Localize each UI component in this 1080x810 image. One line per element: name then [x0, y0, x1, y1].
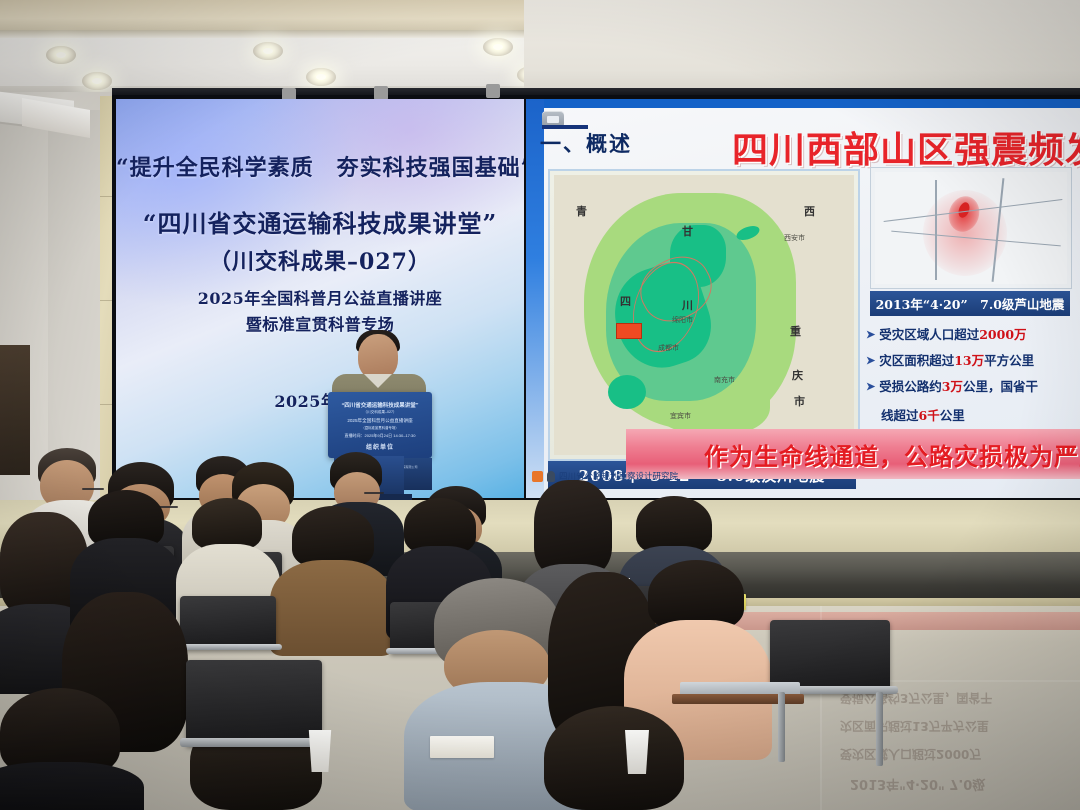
lectern-sign: “四川省交通运输科技成果讲堂” （川交科成果–027） 2025年全国科普月公益…: [333, 397, 427, 453]
hair: [192, 498, 262, 550]
torso: [0, 762, 144, 810]
map-label-province: 西: [804, 203, 815, 219]
floor-reflection-text: 灾区面积超过13万平方公里: [840, 718, 989, 735]
bullet-list: ➤ 受灾区域人口超过2000万 ➤ 灾区面积超过13万平方公里 ➤ 受损公路约3…: [866, 327, 1078, 424]
map-label-province: 青: [576, 203, 587, 219]
bullet-highlight: 3万: [942, 379, 963, 394]
bullet-text-tail: 平方公里: [984, 353, 1034, 368]
red-banner-text: 作为生命线通道，公路灾损极为严重: [704, 437, 1080, 472]
long-hair: [534, 480, 612, 576]
lectern-line1: “四川省交通运输科技成果讲堂”: [336, 401, 424, 409]
dark-doorway: [0, 345, 30, 475]
map-label-province: 庆: [792, 367, 803, 383]
slide-event-line1: 2025年全国科普月公益直播讲座: [116, 289, 524, 309]
map-intensity-high: [608, 375, 646, 409]
map-canvas-small: [875, 172, 1067, 284]
screen-mount-bracket: [374, 86, 388, 100]
bullet-arrow-icon: ➤: [866, 379, 875, 396]
lectern-line6: 组织单位: [336, 442, 424, 451]
wenchuan-intensity-map: 四 川 重 庆 市 青 西 甘 成都市 绵阳市 西安市 南充市 宜宾市: [548, 169, 860, 461]
hair: [544, 706, 684, 810]
recessed-downlight: [46, 46, 76, 64]
map-label-province: 川: [682, 297, 693, 313]
bullet-item: ➤ 受损公路约3万公里，国省干: [866, 379, 1078, 396]
chair-armrest: [176, 644, 282, 650]
lectern-line2: （川交科成果–027）: [336, 410, 424, 415]
bullet-arrow-icon: ➤: [866, 353, 875, 370]
map-label-province: 市: [794, 393, 805, 409]
audience-chair: [186, 660, 322, 746]
recessed-downlight: [306, 68, 336, 86]
section-heading: 一、概述: [540, 128, 632, 158]
map-label-province: 四: [620, 293, 631, 309]
slide-left-accent-edge: [526, 99, 544, 498]
conference-hall-photo: “提升全民科学素质 夯实科技强国基础” “四川省交通运输科技成果讲堂” （川交科…: [0, 0, 1080, 810]
floor-reflection-text: 受灾区域人口超过2000万: [840, 746, 981, 763]
slide-top-accent-bar: [526, 99, 1080, 108]
recessed-downlight: [253, 42, 283, 60]
slide-main-title: 四川西部山区强震频发: [732, 121, 1080, 173]
bullet-text: 受灾区域人口超过: [879, 327, 979, 342]
audience-chair: [180, 596, 276, 650]
chair-armrest: [180, 738, 330, 747]
microphone-icon: [547, 471, 555, 482]
epicenter-marker: [616, 323, 642, 339]
map-label-city: 南充市: [714, 375, 735, 385]
bullet-highlight: 13万: [954, 353, 984, 368]
eyeglasses: [364, 492, 384, 494]
bullet-item: ➤ 受灾区域人口超过2000万: [866, 327, 1078, 344]
bullet-text: 灾区面积超过: [879, 353, 954, 368]
slide-title-line2: “四川省交通运输科技成果讲堂”: [116, 209, 524, 238]
continuation-highlight: 6千: [919, 408, 940, 423]
floor-reflection-text: 2013年"4·20" 7.0级: [850, 776, 985, 795]
small-map-caption: 2013年“4·20” 7.0级芦山地震: [870, 291, 1070, 316]
continuation-after: 公里: [940, 408, 965, 423]
map-label-province: 甘: [682, 223, 693, 239]
right-presentation-slide[interactable]: 一、概述 四川西部山区强震频发 四 川 重 庆 市 青: [526, 99, 1080, 498]
torso: [270, 560, 394, 656]
bullet-highlight: 2000万: [979, 327, 1026, 342]
chair-leg: [778, 692, 785, 762]
map-canvas: 四 川 重 庆 市 青 西 甘 成都市 绵阳市 西安市 南充市 宜宾市: [554, 175, 854, 455]
map-label-province: 重: [790, 323, 801, 339]
org-logo-icon: [532, 471, 543, 482]
hair: [292, 506, 374, 568]
bullet-text: 受损公路约: [879, 379, 942, 394]
bullet-arrow-icon: ➤: [866, 327, 875, 344]
lectern-line5: 直播时间：2025年9月24日 14:30–17:30: [336, 433, 424, 439]
eyeglasses: [82, 488, 104, 490]
bullet-item: ➤ 灾区面积超过13万平方公里: [866, 353, 1078, 370]
lectern-line3: 2025年全国科普月公益直播讲座: [336, 418, 424, 424]
map-road-line: [935, 180, 937, 280]
lectern: “四川省交通运输科技成果讲堂” （川交科成果–027） 2025年全国科普月公益…: [328, 392, 432, 458]
map-label-city: 成都市: [658, 343, 679, 353]
map-label-city: 宜宾市: [670, 411, 691, 421]
chair-leg: [876, 692, 883, 766]
screen-mount-bracket: [486, 84, 500, 98]
map-label-city: 绵阳市: [672, 315, 693, 325]
recessed-downlight: [483, 38, 513, 56]
lectern-line4: （暨标准宣贯科普专场）: [336, 425, 424, 430]
red-emphasis-banner: 作为生命线通道，公路灾损极为严重: [626, 429, 1080, 479]
lushan-intensity-map: [870, 167, 1072, 289]
bullet-continuation: 线超过6千公里: [881, 405, 1078, 424]
right-wall: [524, 0, 1080, 100]
slide-title-line1: “提升全民科学素质 夯实科技强国基础”: [116, 155, 524, 182]
recessed-downlight: [82, 72, 112, 90]
map-label-city: 西安市: [784, 233, 805, 243]
paper-sheet: [430, 736, 494, 758]
slide-subtitle-code: （川交科成果–027）: [116, 249, 524, 276]
slide-watermark: 四川省公路规划勘察设计研究院: [532, 470, 678, 482]
continuation-before: 线超过: [881, 408, 919, 423]
bullet-text-tail: 公里，国省干: [963, 379, 1038, 394]
